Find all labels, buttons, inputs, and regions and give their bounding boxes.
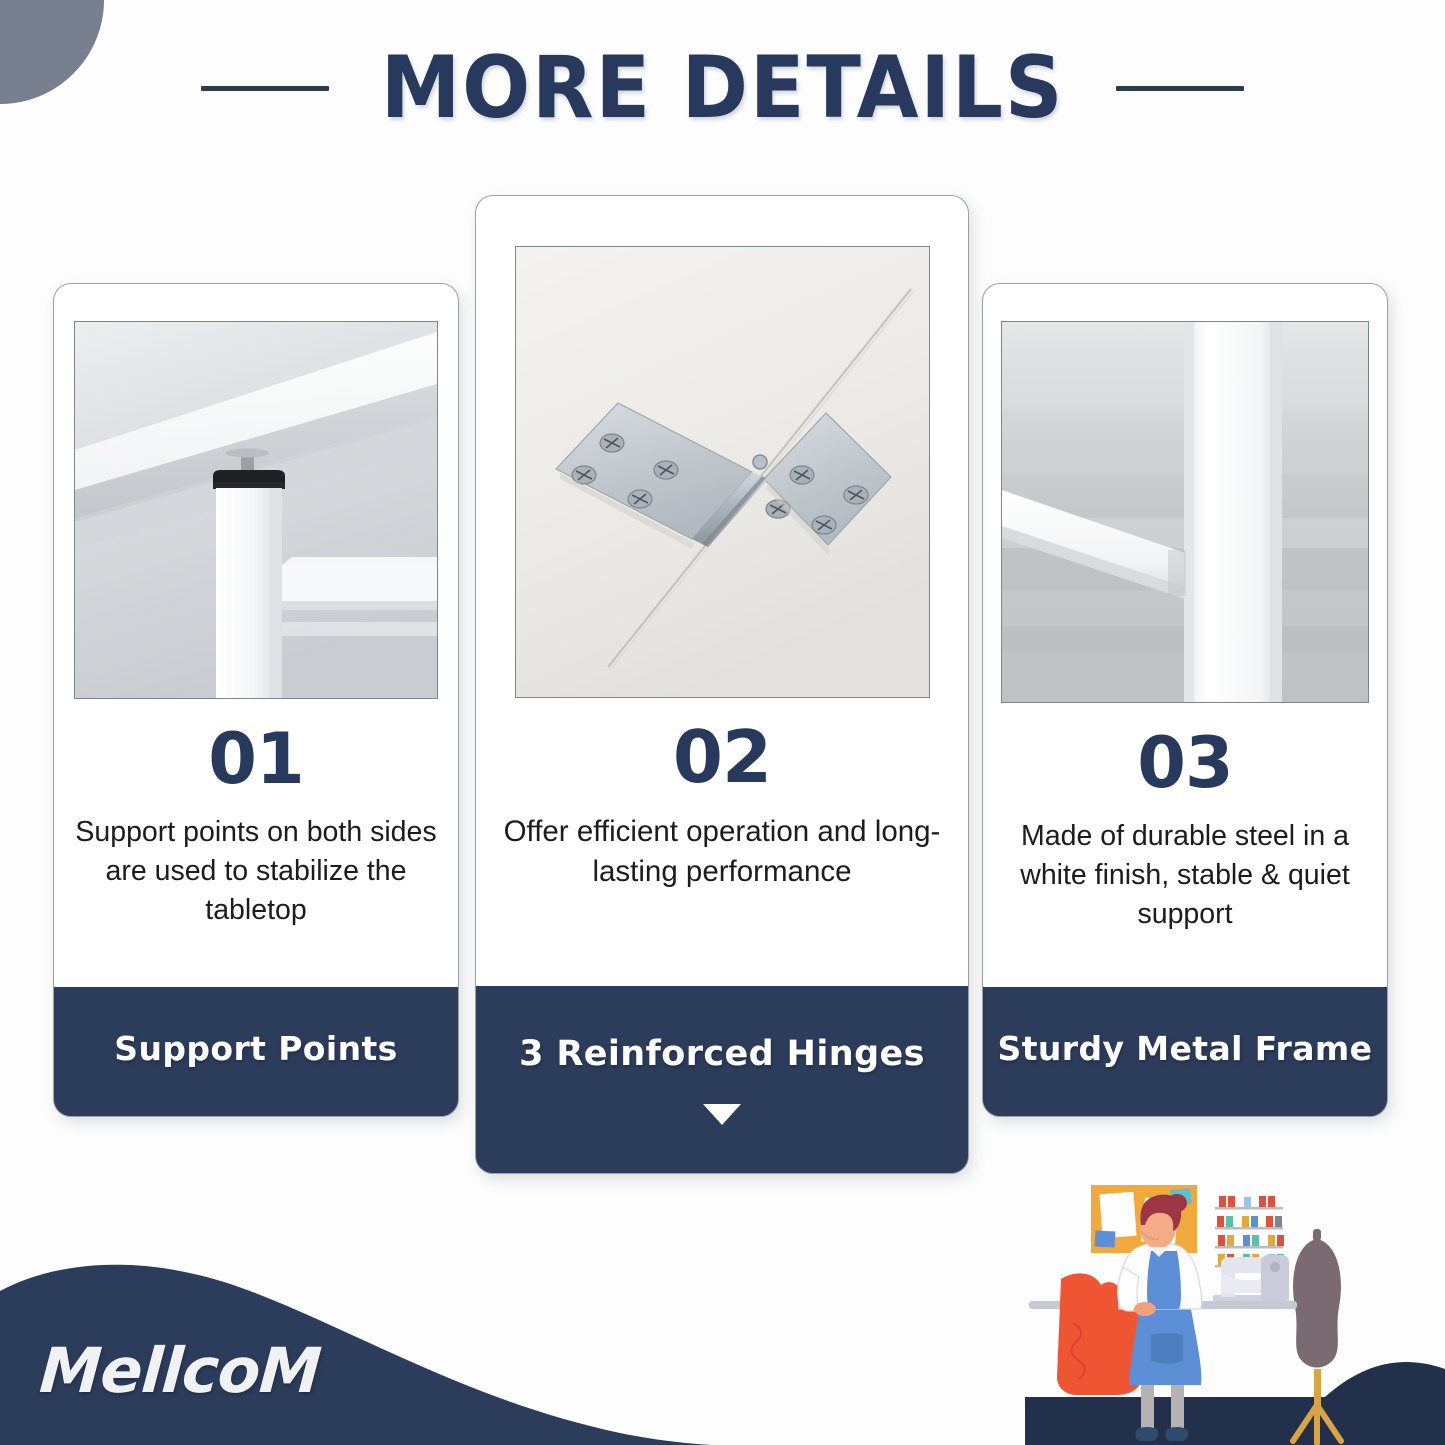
support-point-photo-svg [75, 322, 437, 698]
sewing-studio-illustration [1025, 1183, 1445, 1445]
product-photo-hinge [515, 246, 930, 698]
detail-card-01[interactable]: 01 Support points on both sides are used… [53, 283, 459, 1117]
detail-card-01-number: 01 [66, 723, 446, 797]
hinge-photo-svg [516, 247, 929, 697]
detail-card-02-body: 02 Offer efficient operation and long-la… [476, 698, 968, 986]
chevron-down-icon[interactable] [703, 1104, 741, 1125]
detail-card-02-banner-label: 3 Reinforced Hinges [476, 986, 968, 1074]
detail-card-03-banner-label: Sturdy Metal Frame [983, 987, 1387, 1068]
brand-logo: MellcoM [37, 1334, 322, 1407]
detail-card-01-body: 01 Support points on both sides are used… [54, 699, 458, 987]
detail-card-02-description: Offer efficient operation and long-lasti… [488, 812, 956, 893]
product-photo-support-points [74, 321, 438, 699]
detail-card-02-number: 02 [488, 720, 956, 796]
detail-card-03-banner: Sturdy Metal Frame [983, 987, 1387, 1116]
detail-card-01-banner-label: Support Points [54, 987, 458, 1068]
product-photo-metal-frame [1001, 321, 1369, 703]
detail-card-03-body: 03 Made of durable steel in a white fini… [983, 703, 1387, 987]
detail-card-02-banner: 3 Reinforced Hinges [476, 986, 968, 1173]
detail-card-01-description: Support points on both sides are used to… [66, 813, 446, 931]
detail-card-02[interactable]: 02 Offer efficient operation and long-la… [475, 195, 969, 1174]
detail-card-03-description: Made of durable steel in a white finish,… [995, 817, 1375, 935]
detail-card-03-number: 03 [995, 727, 1375, 801]
metal-frame-photo-svg [1002, 322, 1368, 702]
detail-card-03[interactable]: 03 Made of durable steel in a white fini… [982, 283, 1388, 1117]
detail-card-01-banner: Support Points [54, 987, 458, 1116]
